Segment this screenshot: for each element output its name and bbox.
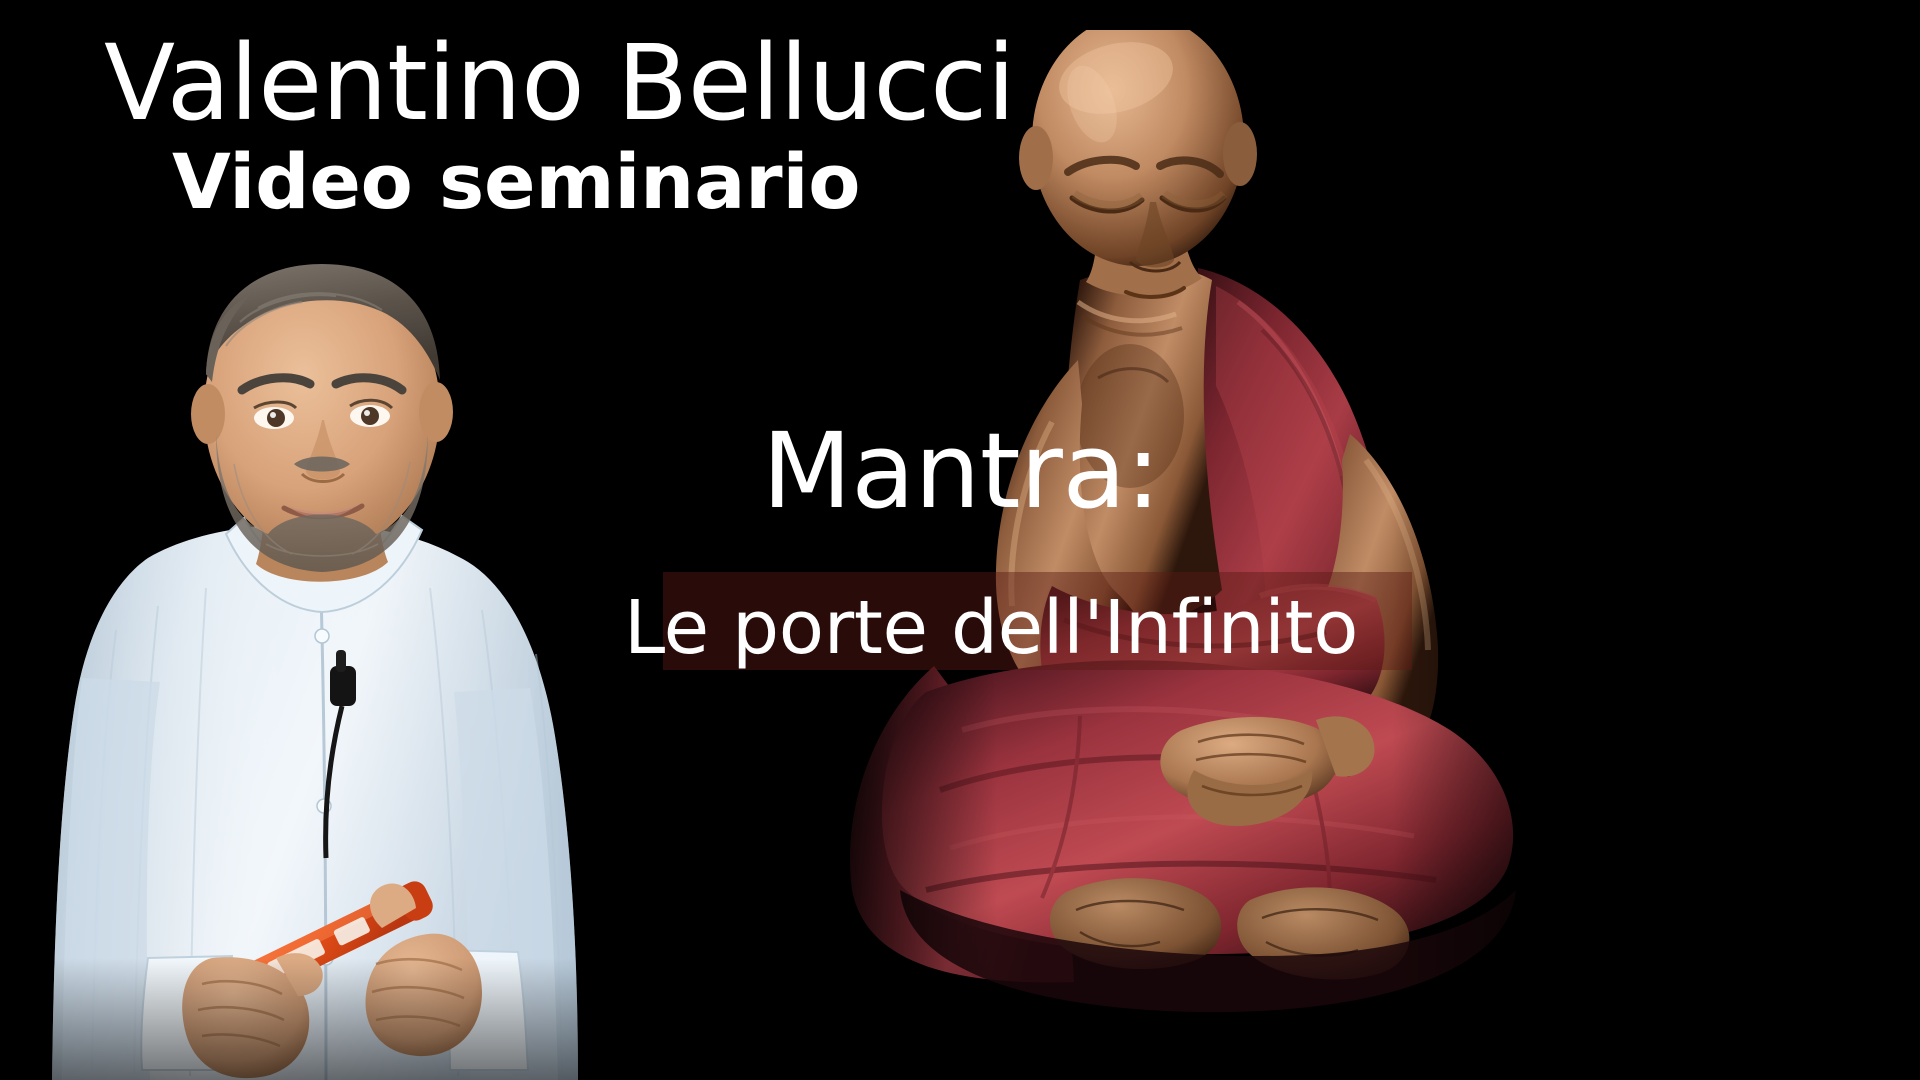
- title-block: Valentino Bellucci Video seminario: [104, 28, 1104, 226]
- mantra-subtitle: Le porte dell'Infinito: [624, 588, 1358, 669]
- thumbnail-canvas: Valentino Bellucci Video seminario Mantr…: [0, 0, 1920, 1080]
- video-seminar-label: Video seminario: [172, 138, 1104, 225]
- presenter-photo: [30, 258, 610, 1080]
- presenter-name: Valentino Bellucci: [104, 28, 1104, 138]
- mantra-heading: Mantra:: [762, 414, 1160, 528]
